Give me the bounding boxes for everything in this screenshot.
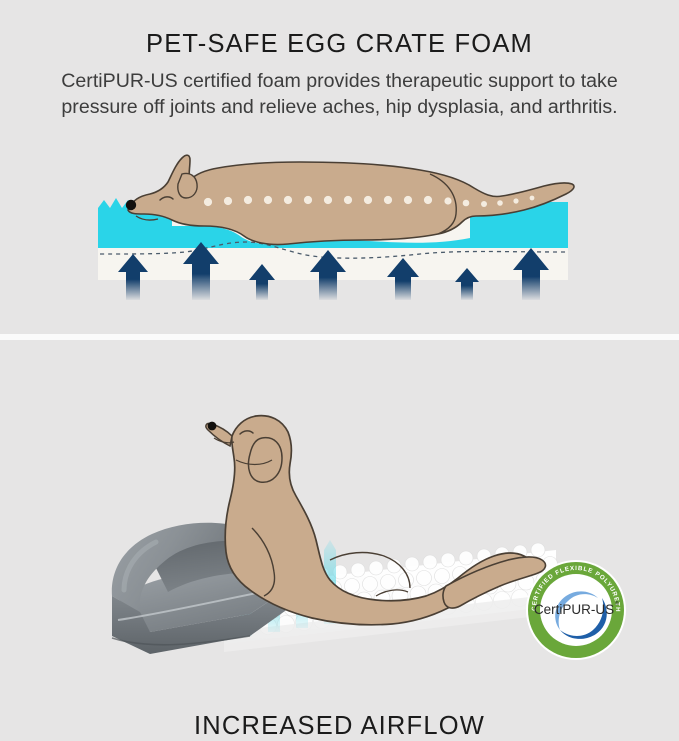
dog-nose (208, 422, 217, 431)
body-line-1: CertiPUR-US certified foam provides ther… (61, 70, 618, 92)
cross-section-illustration (0, 130, 679, 325)
body-line-2: pressure off joints and relieve aches, h… (18, 94, 661, 120)
dog-nose (126, 200, 136, 210)
certipur-us-badge: CONTAINS CERTIFIED FLEXIBLE POLYURETHANE… (524, 558, 628, 662)
dog-ear (178, 173, 197, 198)
panel-two-headline: INCREASED AIRFLOW (0, 712, 679, 741)
dog-ear (248, 438, 282, 483)
panel-one-body-text: CertiPUR-US certified foam provides ther… (18, 68, 661, 120)
panel-pet-safe-egg-crate-foam: PET-SAFE EGG CRATE FOAM CertiPUR-US cert… (0, 0, 679, 338)
infographic-stage: PET-SAFE EGG CRATE FOAM CertiPUR-US cert… (0, 0, 679, 679)
badge-registered-mark: ® (615, 600, 619, 607)
panel-one-headline: PET-SAFE EGG CRATE FOAM (0, 30, 679, 59)
badge-brand-text: CertiPUR-US (534, 602, 614, 617)
